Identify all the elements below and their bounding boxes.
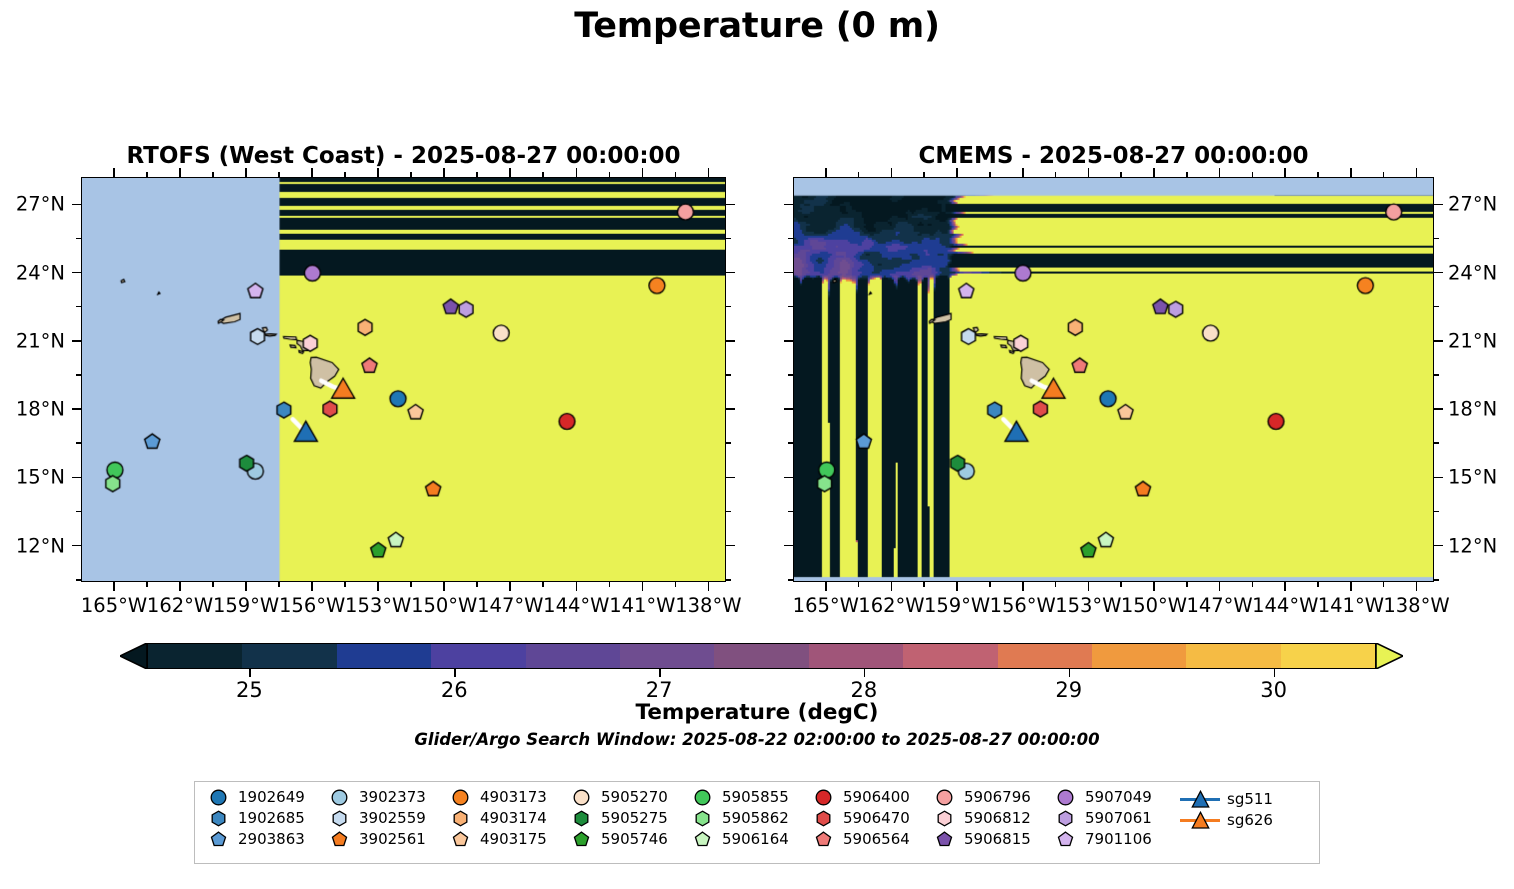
y-axis-minor-tick	[726, 374, 731, 376]
figure-canvas: Temperature (0 m) RTOFS (West Coast) - 2…	[0, 0, 1514, 889]
y-axis-tick	[784, 545, 793, 547]
colorbar-band-2	[337, 644, 431, 668]
x-axis-tick	[1088, 582, 1090, 591]
legend-label: 5906470	[843, 809, 910, 827]
circle-marker-icon	[689, 789, 715, 806]
legend-item-5906164[interactable]: 5906164	[689, 830, 789, 848]
pentagon-marker-icon	[326, 831, 352, 848]
x-axis-minor-tick	[1383, 582, 1385, 587]
x-axis-minor-tick	[1055, 582, 1057, 587]
colorbar-tick	[864, 669, 866, 677]
y-axis-label: 15°N	[1448, 466, 1497, 489]
y-axis-label: 15°N	[16, 466, 65, 489]
x-axis-minor-tick	[609, 582, 611, 587]
x-axis-minor-tick	[923, 582, 925, 587]
legend-item-5907049[interactable]: 5907049	[1052, 788, 1152, 806]
legend-label: 4903175	[480, 830, 547, 848]
y-axis-tick	[784, 272, 793, 274]
colorbar-tick-label: 26	[441, 678, 468, 702]
x-axis-label: 144°W	[1252, 594, 1318, 617]
x-axis-label: 147°W	[1186, 594, 1252, 617]
legend-label: 5906815	[964, 830, 1031, 848]
colorbar-band-1	[242, 644, 336, 668]
x-axis-label: 162°W	[147, 594, 213, 617]
x-axis-minor-tick	[1317, 172, 1319, 177]
y-axis-minor-tick	[726, 442, 731, 444]
y-axis-minor-tick	[1434, 442, 1439, 444]
x-axis-label: 165°W	[81, 594, 147, 617]
y-axis-tick	[784, 477, 793, 479]
pentagon-marker-icon	[568, 831, 594, 848]
glider-track-swatch	[1180, 809, 1220, 831]
y-axis-label: 18°N	[16, 398, 65, 421]
y-axis-minor-tick	[76, 511, 81, 513]
y-axis-minor-tick	[788, 238, 793, 240]
x-axis-minor-tick	[675, 582, 677, 587]
x-axis-tick	[443, 168, 445, 177]
x-axis-tick	[245, 168, 247, 177]
colorbar[interactable]: 252627282930	[120, 643, 1403, 669]
x-axis-minor-tick	[1120, 172, 1122, 177]
legend-item-3902559[interactable]: 3902559	[326, 809, 426, 827]
legend-item-5906815[interactable]: 5906815	[931, 830, 1031, 848]
colorbar-extend-low-icon	[120, 643, 147, 669]
y-axis-minor-tick	[76, 374, 81, 376]
x-axis-minor-tick	[542, 582, 544, 587]
legend-item-7901106[interactable]: 7901106	[1052, 830, 1152, 848]
x-axis-tick	[1153, 582, 1155, 591]
pentagon-marker-icon	[447, 831, 473, 848]
x-axis-tick	[1022, 168, 1024, 177]
colorbar-tick	[249, 669, 251, 677]
y-axis-tick	[1434, 477, 1443, 479]
x-axis-tick	[443, 582, 445, 591]
x-axis-minor-tick	[410, 172, 412, 177]
legend-label: 3902559	[359, 809, 426, 827]
y-axis-minor-tick	[788, 374, 793, 376]
colorbar-tick	[659, 669, 661, 677]
x-axis-label: 138°W	[675, 594, 741, 617]
map-panel-rtofs: RTOFS (West Coast) - 2025-08-27 00:00:00…	[81, 177, 726, 582]
legend-label: 4903173	[480, 788, 547, 806]
map-panel-cmems: CMEMS - 2025-08-27 00:00:00 165°W162°W15…	[793, 177, 1434, 582]
colorbar-tick-label: 27	[646, 678, 673, 702]
x-axis-minor-tick	[1252, 172, 1254, 177]
x-axis-label: 147°W	[477, 594, 543, 617]
x-axis-tick	[377, 582, 379, 591]
y-axis-minor-tick	[76, 579, 81, 581]
y-axis-label: 12°N	[1448, 534, 1497, 557]
x-axis-tick	[1284, 582, 1286, 591]
x-axis-minor-tick	[212, 172, 214, 177]
x-axis-tick	[708, 582, 710, 591]
y-axis-minor-tick	[76, 442, 81, 444]
x-axis-tick	[1416, 582, 1418, 591]
y-axis-label: 24°N	[16, 261, 65, 284]
x-axis-tick	[891, 582, 893, 591]
y-axis-tick	[72, 408, 81, 410]
x-axis-label: 159°W	[213, 594, 279, 617]
x-axis-tick	[576, 168, 578, 177]
hexagon-marker-icon	[447, 810, 473, 827]
colorbar-tick-label: 25	[236, 678, 263, 702]
x-axis-minor-tick	[278, 172, 280, 177]
x-axis-minor-tick	[476, 172, 478, 177]
colorbar-tick	[1274, 669, 1276, 677]
legend-label: 5905862	[722, 809, 789, 827]
x-axis-tick	[1088, 168, 1090, 177]
x-axis-tick	[1284, 168, 1286, 177]
x-axis-label: 165°W	[793, 594, 859, 617]
x-axis-tick	[311, 168, 313, 177]
y-axis-tick	[726, 204, 735, 206]
x-axis-minor-tick	[542, 172, 544, 177]
x-axis-minor-tick	[675, 172, 677, 177]
legend-label: 3902373	[359, 788, 426, 806]
legend-label: 7901106	[1085, 830, 1152, 848]
y-axis-label: 18°N	[1448, 398, 1497, 421]
x-axis-minor-tick	[989, 582, 991, 587]
colorbar-extend-high-icon	[1376, 643, 1403, 669]
x-axis-minor-tick	[344, 172, 346, 177]
x-axis-tick	[113, 582, 115, 591]
colorbar-band-6	[714, 644, 808, 668]
x-axis-tick	[825, 168, 827, 177]
x-axis-tick	[1219, 168, 1221, 177]
legend-label: 5906812	[964, 809, 1031, 827]
x-axis-tick	[708, 168, 710, 177]
legend-item-5906470[interactable]: 5906470	[810, 809, 910, 827]
y-axis-minor-tick	[76, 306, 81, 308]
x-axis-label: 138°W	[1383, 594, 1449, 617]
x-axis-minor-tick	[146, 172, 148, 177]
x-axis-tick	[179, 582, 181, 591]
map-area-rtofs[interactable]	[81, 177, 726, 582]
y-axis-tick	[726, 545, 735, 547]
y-axis-tick	[726, 340, 735, 342]
legend-label: 5905746	[601, 830, 668, 848]
circle-marker-icon	[810, 789, 836, 806]
pentagon-marker-icon	[689, 831, 715, 848]
y-axis-tick	[784, 408, 793, 410]
legend-label: 3902561	[359, 830, 426, 848]
y-axis-minor-tick	[788, 579, 793, 581]
legend-label: 5905270	[601, 788, 668, 806]
y-axis-minor-tick	[788, 306, 793, 308]
y-axis-label: 24°N	[1448, 261, 1497, 284]
y-axis-label: 21°N	[1448, 329, 1497, 352]
circle-marker-icon	[931, 789, 957, 806]
x-axis-minor-tick	[476, 582, 478, 587]
glider-track-swatch	[1180, 788, 1220, 810]
colorbar-band-5	[620, 644, 714, 668]
legend-item-5906812[interactable]: 5906812	[931, 809, 1031, 827]
panel-title-cmems: CMEMS - 2025-08-27 00:00:00	[918, 143, 1308, 169]
y-axis-minor-tick	[1434, 579, 1439, 581]
legend-item-sg626[interactable]: sg626	[1180, 809, 1273, 831]
y-axis-tick	[72, 340, 81, 342]
x-axis-label: 159°W	[924, 594, 990, 617]
x-axis-minor-tick	[344, 582, 346, 587]
pentagon-marker-icon	[205, 831, 231, 848]
x-axis-label: 150°W	[411, 594, 477, 617]
legend-item-5905862[interactable]: 5905862	[689, 809, 789, 827]
colorbar-band-10	[1092, 644, 1186, 668]
x-axis-label: 156°W	[990, 594, 1056, 617]
legend-label: 2903863	[238, 830, 305, 848]
y-axis-tick	[72, 204, 81, 206]
y-axis-minor-tick	[1434, 306, 1439, 308]
x-axis-tick	[179, 168, 181, 177]
colorbar-tick	[454, 669, 456, 677]
legend-item-2903863[interactable]: 2903863	[205, 830, 305, 848]
y-axis-minor-tick	[726, 579, 731, 581]
y-axis-minor-tick	[726, 238, 731, 240]
y-axis-label: 12°N	[16, 534, 65, 557]
y-axis-tick	[726, 272, 735, 274]
x-axis-label: 162°W	[858, 594, 924, 617]
pentagon-marker-icon	[810, 831, 836, 848]
legend-item-5905270[interactable]: 5905270	[568, 788, 668, 806]
x-axis-tick	[1350, 582, 1352, 591]
x-axis-minor-tick	[278, 582, 280, 587]
x-axis-tick	[891, 168, 893, 177]
colorbar-band-8	[903, 644, 997, 668]
y-axis-minor-tick	[726, 306, 731, 308]
y-axis-tick	[1434, 408, 1443, 410]
colorbar-tick-label: 28	[851, 678, 878, 702]
colorbar-tick	[1069, 669, 1071, 677]
temperature-field-cmems	[794, 178, 1433, 581]
legend-label: 5907049	[1085, 788, 1152, 806]
legend-label: 5905855	[722, 788, 789, 806]
colorbar-band-11	[1186, 644, 1280, 668]
hexagon-marker-icon	[205, 810, 231, 827]
x-axis-tick	[956, 168, 958, 177]
x-axis-label: 141°W	[609, 594, 675, 617]
y-axis-minor-tick	[1434, 374, 1439, 376]
y-axis-tick	[1434, 545, 1443, 547]
x-axis-tick	[1153, 168, 1155, 177]
x-axis-minor-tick	[1383, 172, 1385, 177]
legend-label: 4903174	[480, 809, 547, 827]
legend-item-4903173[interactable]: 4903173	[447, 788, 547, 806]
x-axis-tick	[825, 582, 827, 591]
colorbar-tick-label: 29	[1055, 678, 1082, 702]
y-axis-minor-tick	[726, 511, 731, 513]
y-axis-tick	[726, 477, 735, 479]
x-axis-tick	[509, 168, 511, 177]
x-axis-label: 141°W	[1318, 594, 1384, 617]
legend-item-1902649[interactable]: 1902649	[205, 788, 305, 806]
x-axis-minor-tick	[1055, 172, 1057, 177]
y-axis-tick	[1434, 204, 1443, 206]
legend-item-5905855[interactable]: 5905855	[689, 788, 789, 806]
hexagon-marker-icon	[810, 810, 836, 827]
colorbar-band-7	[809, 644, 903, 668]
x-axis-minor-tick	[609, 172, 611, 177]
temperature-field-rtofs	[82, 178, 725, 581]
hexagon-marker-icon	[931, 810, 957, 827]
legend-label: 5906564	[843, 830, 910, 848]
x-axis-tick	[509, 582, 511, 591]
y-axis-minor-tick	[76, 238, 81, 240]
x-axis-tick	[642, 582, 644, 591]
colorbar-band-0	[148, 644, 242, 668]
x-axis-tick	[377, 168, 379, 177]
legend-label: 5905275	[601, 809, 668, 827]
legend-item-sg511[interactable]: sg511	[1180, 788, 1273, 810]
legend-label: 5906164	[722, 830, 789, 848]
y-axis-minor-tick	[788, 511, 793, 513]
legend-item-3902373[interactable]: 3902373	[326, 788, 426, 806]
x-axis-label: 153°W	[1055, 594, 1121, 617]
x-axis-tick	[956, 582, 958, 591]
x-axis-tick	[642, 168, 644, 177]
colorbar-band-9	[998, 644, 1092, 668]
colorbar-tick-label: 30	[1260, 678, 1287, 702]
colorbar-band-3	[431, 644, 525, 668]
y-axis-tick	[72, 272, 81, 274]
legend-item-4903174[interactable]: 4903174	[447, 809, 547, 827]
y-axis-minor-tick	[1434, 238, 1439, 240]
x-axis-tick	[1022, 582, 1024, 591]
y-axis-tick	[784, 340, 793, 342]
hexagon-marker-icon	[326, 810, 352, 827]
legend-item-5907061[interactable]: 5907061	[1052, 809, 1152, 827]
legend-item-5906564[interactable]: 5906564	[810, 830, 910, 848]
figure-title: Temperature (0 m)	[0, 6, 1514, 46]
y-axis-tick	[784, 204, 793, 206]
x-axis-minor-tick	[989, 172, 991, 177]
colorbar-title: Temperature (degC)	[0, 700, 1514, 725]
legend-item-5906796[interactable]: 5906796	[931, 788, 1031, 806]
y-axis-tick	[72, 545, 81, 547]
x-axis-tick	[576, 582, 578, 591]
x-axis-label: 150°W	[1121, 594, 1187, 617]
pentagon-marker-icon	[1052, 831, 1078, 848]
legend-label: sg511	[1227, 790, 1273, 808]
x-axis-minor-tick	[1317, 582, 1319, 587]
x-axis-label: 144°W	[543, 594, 609, 617]
y-axis-tick	[726, 408, 735, 410]
legend-label: 5906796	[964, 788, 1031, 806]
colorbar-band-4	[526, 644, 620, 668]
y-axis-tick	[1434, 340, 1443, 342]
x-axis-tick	[1219, 582, 1221, 591]
x-axis-minor-tick	[212, 582, 214, 587]
legend-label: 1902649	[238, 788, 305, 806]
y-axis-label: 27°N	[1448, 193, 1497, 216]
legend-label: 1902685	[238, 809, 305, 827]
hexagon-marker-icon	[1052, 810, 1078, 827]
legend-item-5906400[interactable]: 5906400	[810, 788, 910, 806]
x-axis-minor-tick	[858, 172, 860, 177]
x-axis-minor-tick	[1252, 582, 1254, 587]
legend-item-4903175[interactable]: 4903175	[447, 830, 547, 848]
circle-marker-icon	[568, 789, 594, 806]
y-axis-tick	[72, 477, 81, 479]
y-axis-label: 21°N	[16, 329, 65, 352]
x-axis-tick	[1350, 168, 1352, 177]
legend-label: 5906400	[843, 788, 910, 806]
y-axis-tick	[1434, 272, 1443, 274]
x-axis-minor-tick	[923, 172, 925, 177]
hexagon-marker-icon	[689, 810, 715, 827]
circle-marker-icon	[447, 789, 473, 806]
legend-item-5905746[interactable]: 5905746	[568, 830, 668, 848]
y-axis-minor-tick	[788, 442, 793, 444]
circle-marker-icon	[205, 789, 231, 806]
x-axis-tick	[311, 582, 313, 591]
x-axis-tick	[245, 582, 247, 591]
x-axis-minor-tick	[1120, 582, 1122, 587]
x-axis-label: 153°W	[345, 594, 411, 617]
legend-item-1902685[interactable]: 1902685	[205, 809, 305, 827]
legend-label: sg626	[1227, 811, 1273, 829]
platform-legend[interactable]: 1902649190268529038633902373390255939025…	[194, 781, 1320, 864]
colorbar-band-12	[1281, 644, 1375, 668]
x-axis-minor-tick	[146, 582, 148, 587]
legend-label: 5907061	[1085, 809, 1152, 827]
search-window-caption: Glider/Argo Search Window: 2025-08-22 02…	[0, 730, 1514, 749]
circle-marker-icon	[1052, 789, 1078, 806]
x-axis-minor-tick	[410, 582, 412, 587]
x-axis-minor-tick	[1186, 582, 1188, 587]
panel-title-rtofs: RTOFS (West Coast) - 2025-08-27 00:00:00	[126, 143, 680, 169]
colorbar-gradient	[147, 643, 1376, 669]
legend-item-5905275[interactable]: 5905275	[568, 809, 668, 827]
x-axis-tick	[1416, 168, 1418, 177]
legend-item-3902561[interactable]: 3902561	[326, 830, 426, 848]
y-axis-label: 27°N	[16, 193, 65, 216]
x-axis-minor-tick	[1186, 172, 1188, 177]
x-axis-minor-tick	[858, 582, 860, 587]
x-axis-tick	[113, 168, 115, 177]
hexagon-marker-icon	[568, 810, 594, 827]
circle-marker-icon	[326, 789, 352, 806]
pentagon-marker-icon	[931, 831, 957, 848]
x-axis-label: 156°W	[279, 594, 345, 617]
y-axis-minor-tick	[1434, 511, 1439, 513]
map-area-cmems[interactable]	[793, 177, 1434, 582]
